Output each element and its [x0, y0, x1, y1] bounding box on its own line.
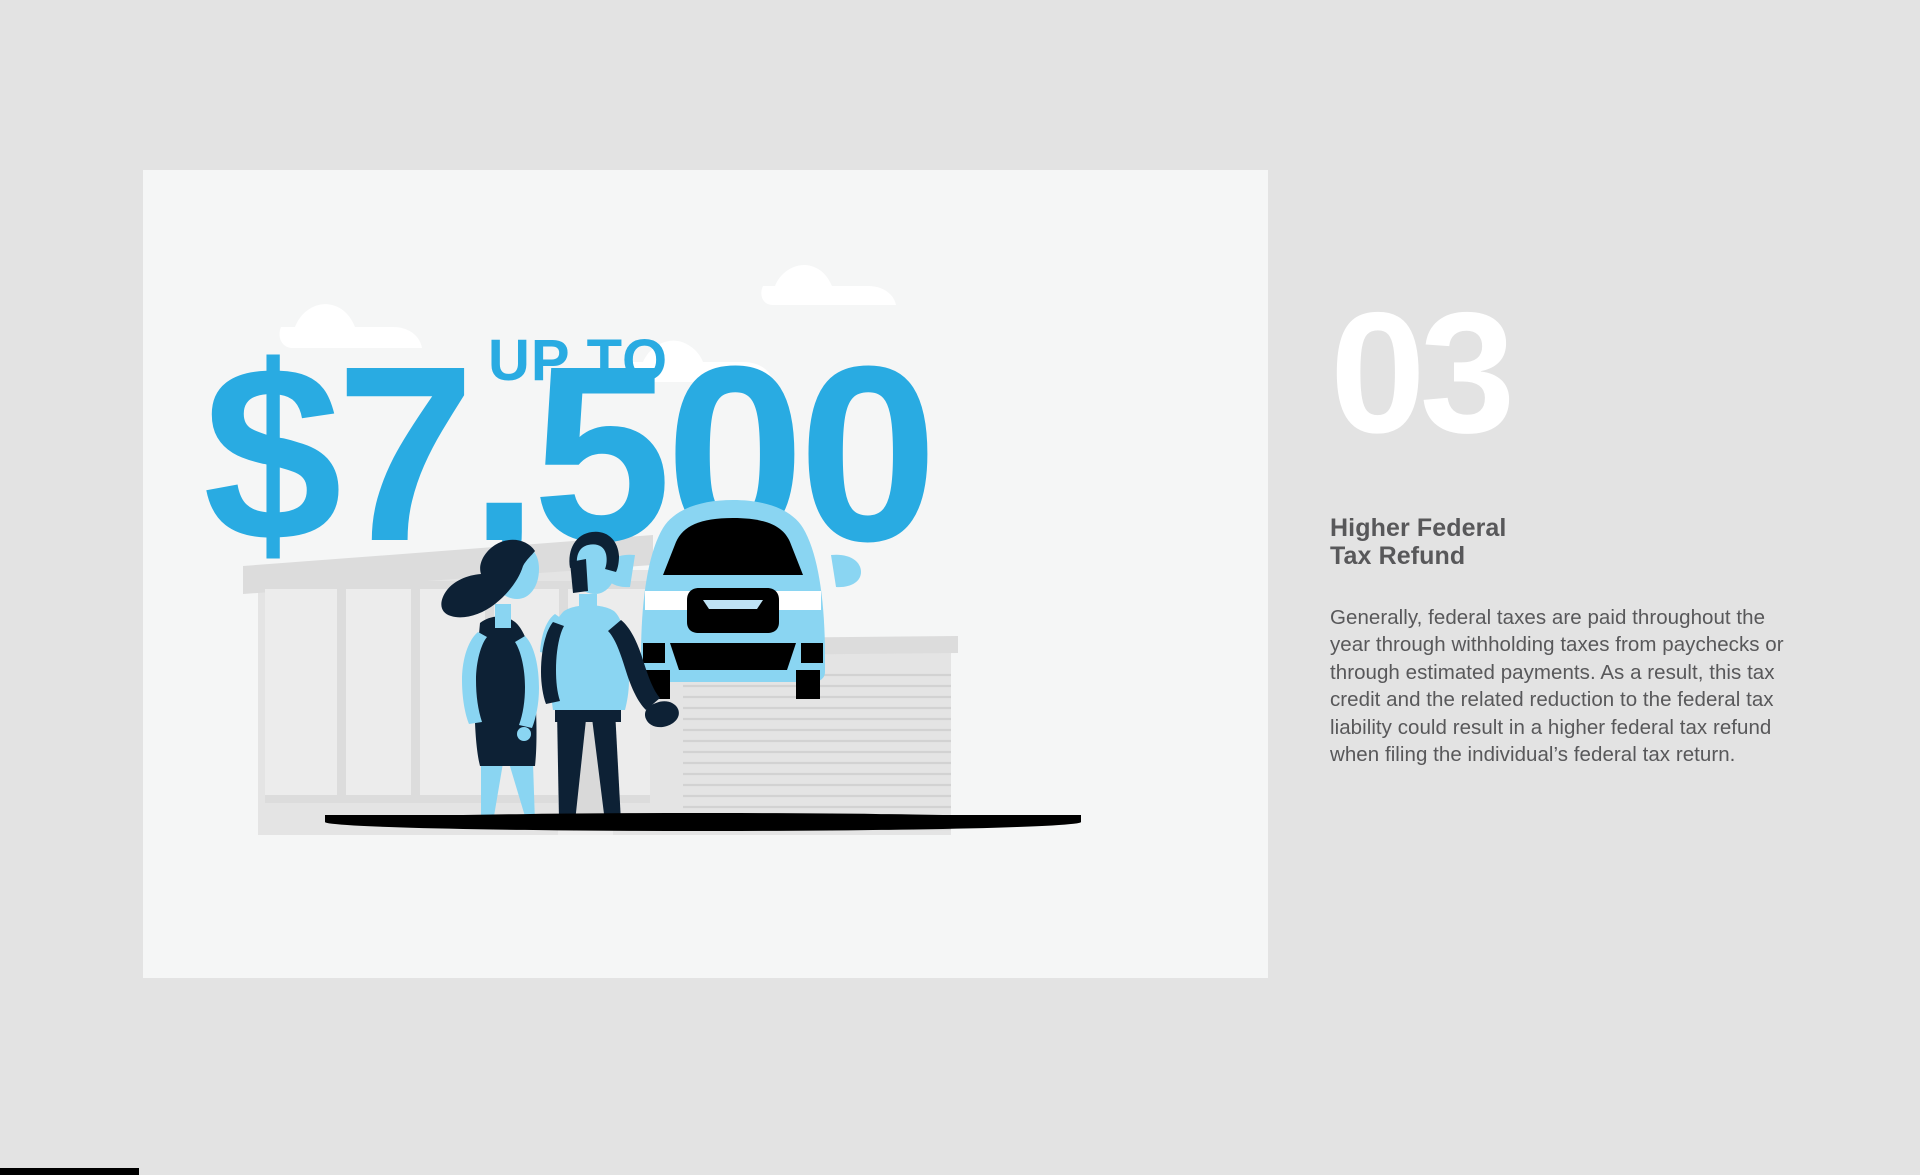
illustration-amount-text: $7,500 — [203, 314, 932, 593]
illustration-panel: UP TO $7,500 — [143, 170, 1268, 978]
section-body-text: Generally, federal taxes are paid throug… — [1330, 604, 1792, 769]
text-column: 03 Higher Federal Tax Refund Generally, … — [1330, 300, 1800, 769]
step-number: 03 — [1330, 300, 1800, 448]
ground-line — [325, 813, 1081, 831]
section-heading: Higher Federal Tax Refund — [1330, 514, 1800, 570]
slide-root: UP TO $7,500 — [0, 0, 1920, 1175]
progress-bar-track[interactable] — [0, 1168, 1920, 1175]
progress-bar-fill — [0, 1168, 139, 1175]
illustration-graphic: UP TO $7,500 — [143, 170, 1268, 978]
